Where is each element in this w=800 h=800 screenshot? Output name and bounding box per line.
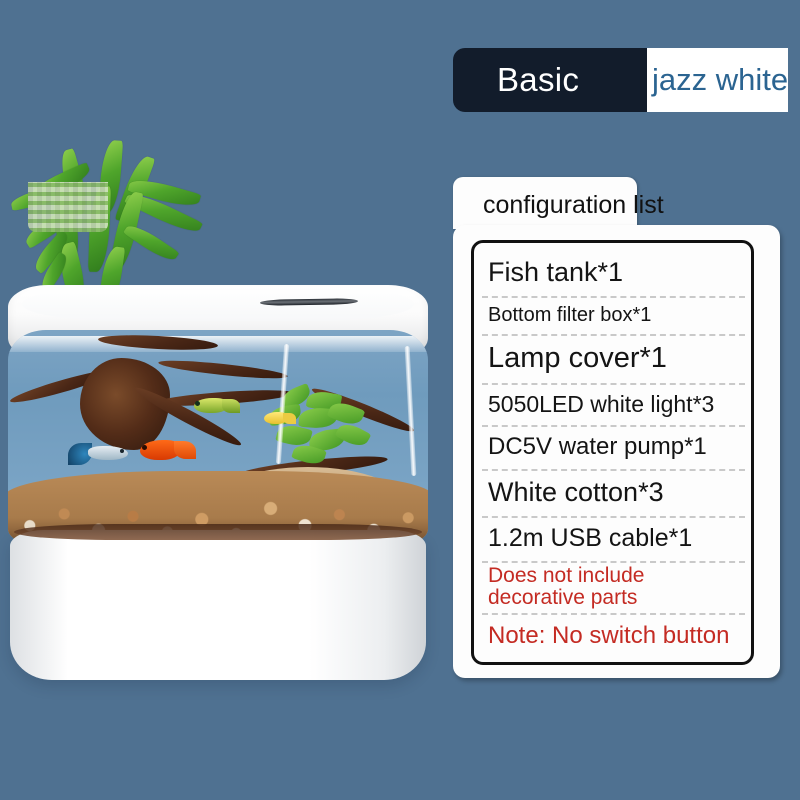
config-list-item-label: DC5V water pump*1 (488, 433, 707, 461)
configuration-list-items: Fish tank*1Bottom filter box*1Lamp cover… (471, 240, 754, 665)
config-list-item: Bottom filter box*1 (474, 296, 751, 334)
waterline (8, 336, 428, 352)
config-list-item-label: Does not include decorative parts (488, 565, 741, 609)
tank-glass-body (8, 330, 428, 545)
config-list-item: Note: No switch button (474, 613, 751, 659)
config-list-item-label: Fish tank*1 (488, 257, 623, 288)
variant-label: jazz white (652, 62, 788, 98)
config-list-item: Does not include decorative parts (474, 561, 751, 613)
variant-swatch-box[interactable]: jazz white (647, 48, 788, 112)
config-list-item-label: 5050LED white light*3 (488, 391, 714, 418)
config-list-item: Fish tank*1 (474, 249, 751, 296)
config-list-item: DC5V water pump*1 (474, 425, 751, 469)
configuration-list-title: configuration list (483, 191, 664, 220)
pump-tube (405, 346, 417, 476)
config-list-item-label: 1.2m USB cable*1 (488, 524, 692, 553)
base-rim (14, 524, 422, 540)
config-list-item: 5050LED white light*3 (474, 383, 751, 425)
basic-title: Basic (497, 61, 579, 99)
config-list-item-label: Bottom filter box*1 (488, 304, 651, 327)
config-list-item-label: White cotton*3 (488, 477, 664, 508)
config-list-item: Lamp cover*1 (474, 334, 751, 383)
product-photo (0, 130, 450, 690)
config-list-item-label: Lamp cover*1 (488, 342, 667, 375)
config-list-item: White cotton*3 (474, 469, 751, 516)
tank-lid-surface (22, 287, 414, 321)
config-list-item-label: Note: No switch button (488, 622, 729, 650)
driftwood-branch (158, 357, 288, 382)
planter-basket (28, 182, 108, 232)
tank-base (10, 530, 426, 680)
config-list-item: 1.2m USB cable*1 (474, 516, 751, 561)
